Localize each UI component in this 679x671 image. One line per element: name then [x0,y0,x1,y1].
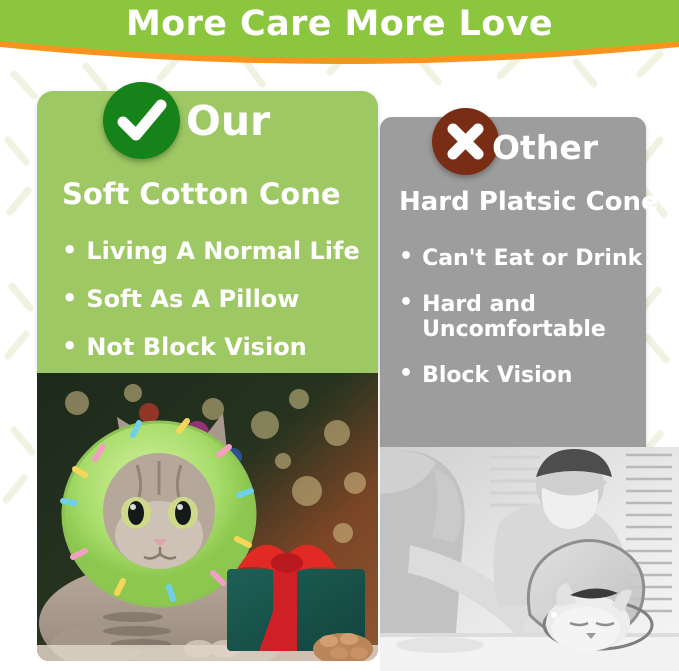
feature-item: •Hard andUncomfortable [399,292,642,343]
feature-item: •Living A Normal Life [62,238,360,266]
other-feature-list: •Can't Eat or Drink•Hard andUncomfortabl… [399,246,642,408]
feature-item: •Soft As A Pillow [62,286,360,314]
bullet-marker: • [62,286,77,314]
our-product-photo [37,373,378,661]
cross-icon [432,108,499,175]
other-product-photo [380,447,679,671]
feature-item: •Not Block Vision [62,334,360,362]
header-banner: More Care More Love [0,0,679,70]
other-subtitle: Hard Platsic Cone [399,187,659,217]
feature-label: Block Vision [422,363,572,389]
feature-item: •Block Vision [399,363,642,389]
feature-label: Not Block Vision [86,334,306,362]
feature-item: •Can't Eat or Drink [399,246,642,272]
product-comparison-infographic: More Care More Love Our Soft Cotton Cone… [0,0,679,671]
feature-label: Soft As A Pillow [86,286,299,314]
feature-label: Living A Normal Life [86,238,359,266]
feature-label: Can't Eat or Drink [422,246,642,272]
page-title: More Care More Love [0,4,679,44]
bullet-marker: • [62,238,77,266]
bullet-marker: • [399,292,413,343]
bullet-marker: • [399,363,413,389]
feature-label: Hard andUncomfortable [422,292,606,343]
our-feature-list: •Living A Normal Life•Soft As A Pillow•N… [62,238,360,381]
our-subtitle: Soft Cotton Cone [62,177,341,211]
bullet-marker: • [399,246,413,272]
bullet-marker: • [62,334,77,362]
check-icon [103,82,180,159]
our-title: Our [186,97,270,145]
other-title: Other [492,128,598,167]
